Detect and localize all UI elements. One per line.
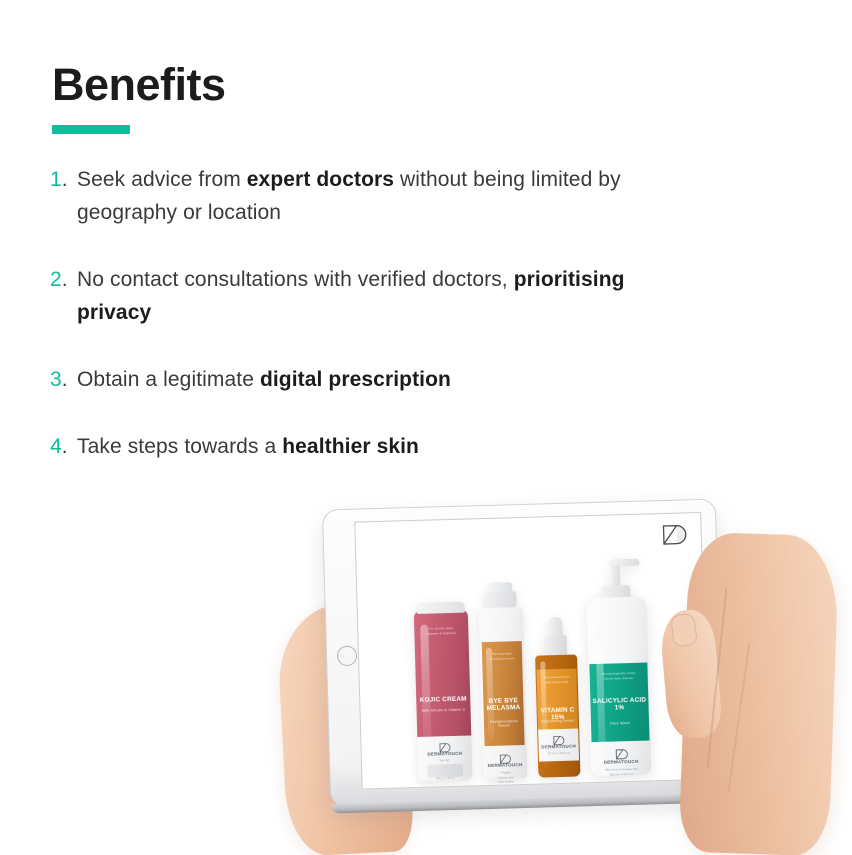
tablet-bottom-edge	[331, 793, 723, 813]
list-item-number-dot: .	[62, 268, 68, 291]
heading-block: Benefits	[52, 62, 226, 134]
tablet-screen[interactable]: For all skin types Lightens & brightens …	[354, 512, 708, 790]
list-item-text: No contact consultations with verified d…	[77, 263, 650, 329]
product-body: For all skin types Lightens & brightens …	[414, 610, 472, 751]
product-pump-neck	[484, 591, 516, 608]
list-item-number: 3.	[50, 363, 77, 396]
product-crimp	[427, 764, 463, 778]
product-top-note: For all skin types Lightens & brightens	[414, 626, 468, 637]
list-item-number-dot: .	[62, 435, 68, 458]
product-bye-bye-melasma[interactable]: Dermatologist formulated serum BYE BYE M…	[478, 582, 527, 779]
product-brandmark-icon	[499, 751, 511, 762]
product-brand: DERMATOUCH	[591, 758, 651, 765]
product-body: Dermatologist formulated serum BYE BYE M…	[479, 607, 528, 779]
list-item-text-before: Take steps towards a	[77, 435, 282, 458]
list-item-text-before: No contact consultations with verified d…	[77, 268, 514, 291]
title-accent-rule	[52, 125, 130, 134]
product-fineprint: Skin Acne & Grease Out 200 ml / 6.76 fl …	[591, 766, 651, 777]
product-pump-stem	[612, 565, 621, 587]
list-item-text: Take steps towards a healthier skin	[77, 430, 650, 463]
list-item-number-value: 4	[50, 435, 62, 458]
product-salicylic-acid[interactable]: Dermatologically tested Gentle daily cle…	[585, 559, 651, 777]
list-item-text-before: Obtain a legitimate	[77, 368, 260, 391]
benefits-slide: Benefits 1. Seek advice from expert doct…	[0, 0, 852, 855]
product-body: Dermatologically tested Gentle daily cle…	[586, 597, 651, 777]
product-brand: DERMATOUCH	[483, 762, 527, 768]
list-item: 3. Obtain a legitimate digital prescript…	[50, 363, 650, 396]
list-item: 4. Take steps towards a healthier skin	[50, 430, 650, 463]
tablet-home-button-icon[interactable]	[337, 646, 358, 667]
list-item-highlight: digital prescription	[260, 368, 451, 391]
list-item-text: Obtain a legitimate digital prescription	[77, 363, 650, 396]
list-item-number-value: 1	[50, 168, 62, 191]
product-name: KOJIC CREAM	[416, 695, 470, 704]
list-item-text-before: Seek advice from	[77, 168, 247, 191]
product-lineup: For all skin types Lightens & brightens …	[356, 537, 707, 783]
list-item-number-value: 3	[50, 368, 62, 391]
list-item-highlight: expert doctors	[247, 168, 394, 191]
list-item-number: 4.	[50, 430, 77, 463]
page-title: Benefits	[52, 62, 226, 107]
product-fineprint: • Fades • Evens tone • Non-greasy • Para…	[483, 770, 528, 790]
list-item-number-dot: .	[62, 168, 68, 191]
list-item-text: Seek advice from expert doctors without …	[77, 163, 650, 229]
list-item-number-value: 2	[50, 268, 62, 291]
list-item-number: 1.	[50, 163, 77, 196]
list-item-highlight: healthier skin	[282, 435, 419, 458]
benefits-list: 1. Seek advice from expert doctors witho…	[50, 163, 650, 463]
product-brandmark-icon	[552, 733, 564, 744]
product-vitamin-c-serum[interactable]: Antioxidant serum with ferulic acid VITA…	[534, 617, 580, 778]
list-item: 2. No contact consultations with verifie…	[50, 263, 650, 329]
product-brand: DERMATOUCH	[418, 750, 472, 757]
product-subtitle: With Arbutin & Vitamin C	[417, 707, 471, 713]
product-kojic-cream[interactable]: For all skin types Lightens & brightens …	[414, 602, 473, 781]
product-photo: For all skin types Lightens & brightens …	[268, 492, 852, 855]
list-item-number-dot: .	[62, 368, 68, 391]
product-brandmark-icon	[615, 747, 627, 758]
product-highlight	[420, 625, 431, 747]
list-item: 1. Seek advice from expert doctors witho…	[50, 163, 650, 229]
product-cap	[417, 602, 465, 614]
list-item-number: 2.	[50, 263, 77, 296]
product-brandmark-icon	[438, 740, 450, 751]
